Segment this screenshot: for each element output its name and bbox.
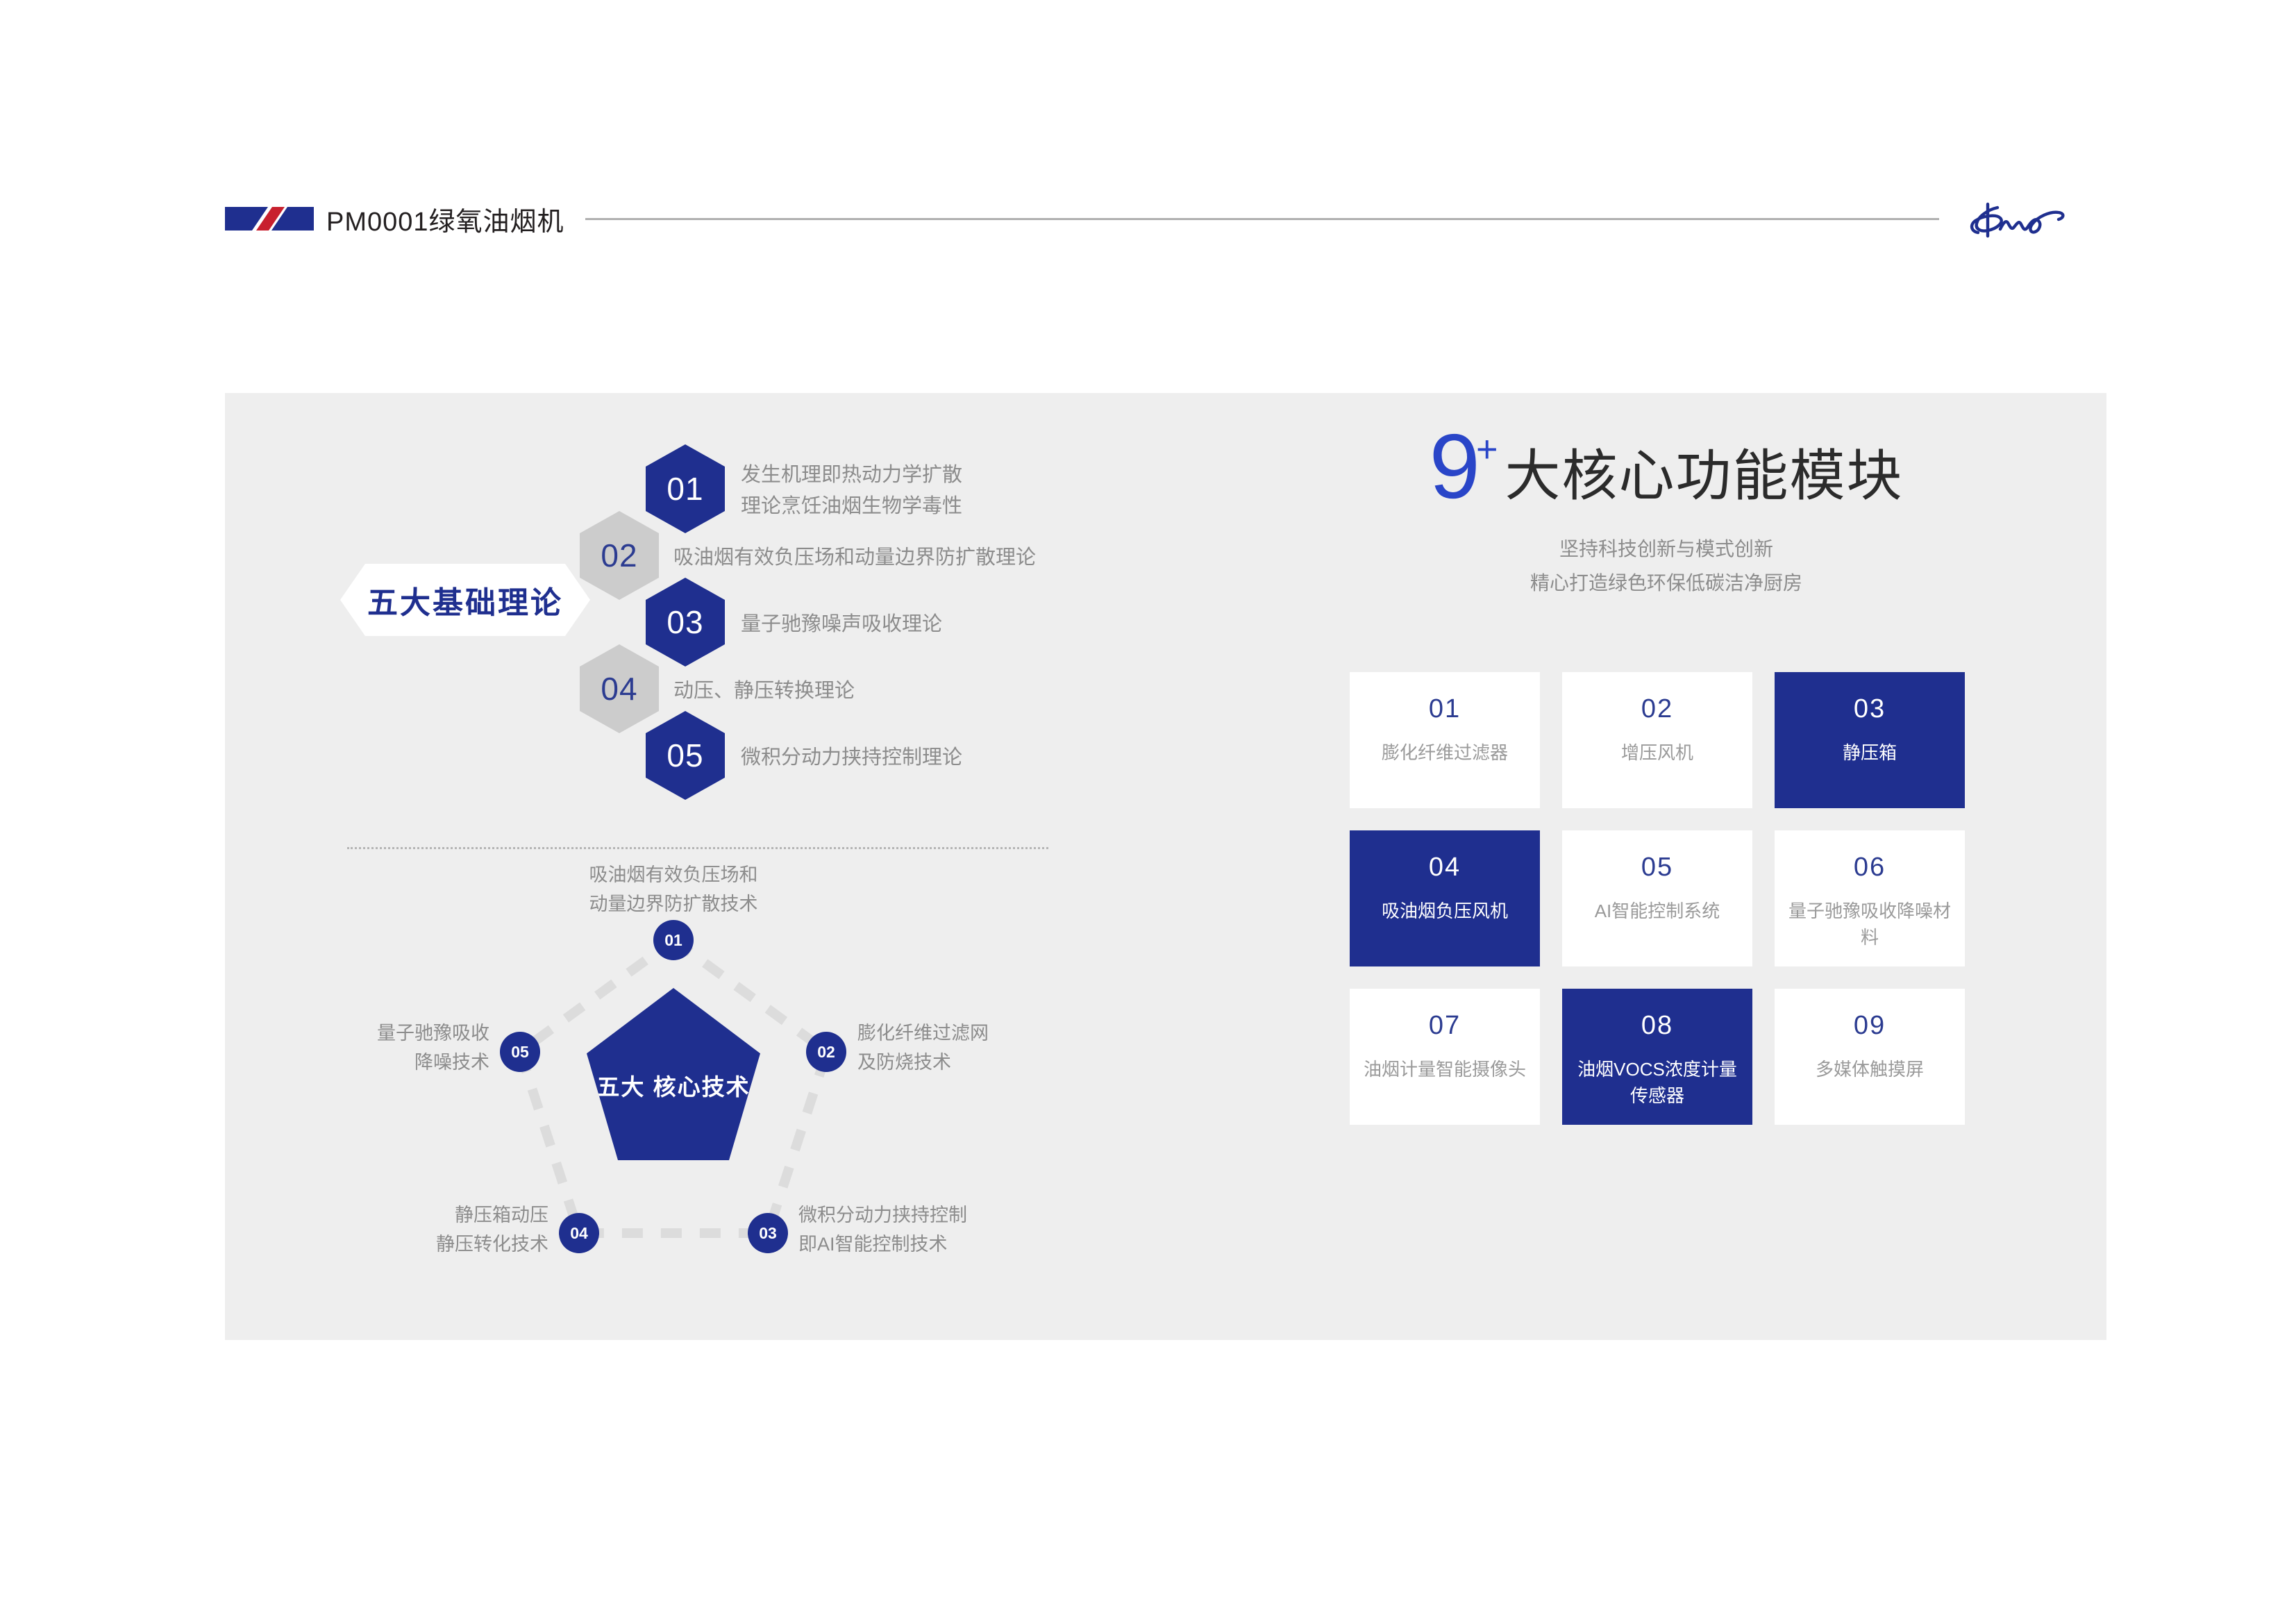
theory-label-04: 动压、静压转换理论 bbox=[673, 676, 855, 707]
core-tech-node-01[interactable]: 01 bbox=[653, 920, 694, 960]
theory-hex-03[interactable]: 03 bbox=[646, 578, 725, 667]
module-grid: 01 膨化纤维过滤器 02 增压风机 03 静压箱 04 吸油烟负压风机 05 … bbox=[1350, 672, 1965, 1125]
module-number: 05 bbox=[1641, 854, 1673, 880]
theory-label-02: 吸油烟有效负压场和动量边界防扩散理论 bbox=[673, 542, 1036, 574]
module-card-01[interactable]: 01 膨化纤维过滤器 bbox=[1350, 672, 1540, 808]
theory-hex-04[interactable]: 04 bbox=[580, 644, 659, 733]
core-tech-node-03[interactable]: 03 bbox=[748, 1213, 788, 1253]
module-label: 增压风机 bbox=[1610, 740, 1704, 767]
core-tech-label-05: 量子驰豫吸收 降噪技术 bbox=[285, 1019, 489, 1078]
theory-label-01: 发生机理即热动力学扩散 理论烹饪油烟生物学毒性 bbox=[741, 460, 962, 522]
core-technologies-section: 五大 核心技术 01 02 03 04 05 吸油烟有效负压场和 动量边界防扩散… bbox=[340, 868, 1062, 1257]
module-number: 04 bbox=[1429, 854, 1461, 880]
core-tech-node-05[interactable]: 05 bbox=[500, 1032, 540, 1072]
core-tech-node-02[interactable]: 02 bbox=[806, 1032, 846, 1072]
module-label: 静压箱 bbox=[1832, 740, 1908, 767]
theory-hex-02[interactable]: 02 bbox=[580, 511, 659, 600]
module-number: 08 bbox=[1641, 1012, 1673, 1039]
module-card-02[interactable]: 02 增压风机 bbox=[1562, 672, 1752, 808]
theory-hex-05[interactable]: 05 bbox=[646, 711, 725, 800]
module-label: 膨化纤维过滤器 bbox=[1371, 740, 1519, 767]
modules-title-block: 9 + 大核心功能模块 坚持科技创新与模式创新 精心打造绿色环保低碳洁净厨房 bbox=[1340, 424, 1993, 600]
module-card-03[interactable]: 03 静压箱 bbox=[1775, 672, 1965, 808]
module-label: 油烟计量智能摄像头 bbox=[1352, 1057, 1537, 1083]
core-tech-label-04: 静压箱动压 静压转化技术 bbox=[330, 1201, 548, 1259]
module-label: 油烟VOCS浓度计量传感器 bbox=[1562, 1057, 1752, 1109]
theory-hex-01[interactable]: 01 bbox=[646, 444, 725, 533]
foundation-theories-section: 五大基础理论 01 02 03 04 05 发生机理即热动力学扩散 理论烹饪油烟… bbox=[340, 444, 1062, 805]
module-number: 07 bbox=[1429, 1012, 1461, 1039]
modules-count-plus: + bbox=[1476, 430, 1498, 468]
foundation-theories-badge: 五大基础理论 bbox=[340, 564, 590, 636]
theory-label-03: 量子驰豫噪声吸收理论 bbox=[741, 609, 942, 640]
module-card-04[interactable]: 04 吸油烟负压风机 bbox=[1350, 830, 1540, 966]
header-divider-rule bbox=[585, 218, 1939, 220]
module-label: 量子驰豫吸收降噪材料 bbox=[1775, 898, 1965, 951]
module-number: 01 bbox=[1429, 696, 1461, 722]
module-label: 吸油烟负压风机 bbox=[1371, 898, 1519, 925]
module-card-08[interactable]: 08 油烟VOCS浓度计量传感器 bbox=[1562, 989, 1752, 1125]
page-title: PM0001绿氧油烟机 bbox=[326, 200, 564, 238]
dawo-signature-logo-icon bbox=[1957, 194, 2106, 243]
module-card-05[interactable]: 05 AI智能控制系统 bbox=[1562, 830, 1752, 966]
core-tech-label-01: 吸油烟有效负压场和 动量边界防扩散技术 bbox=[569, 861, 778, 919]
core-tech-label-02: 膨化纤维过滤网 及防烧技术 bbox=[857, 1019, 1066, 1078]
module-card-06[interactable]: 06 量子驰豫吸收降噪材料 bbox=[1775, 830, 1965, 966]
module-number: 02 bbox=[1641, 696, 1673, 722]
module-number: 06 bbox=[1854, 854, 1886, 880]
modules-subtitle: 坚持科技创新与模式创新 精心打造绿色环保低碳洁净厨房 bbox=[1340, 532, 1993, 600]
theory-label-05: 微积分动力挟持控制理论 bbox=[741, 742, 962, 773]
modules-count-number: 9 bbox=[1430, 426, 1480, 507]
modules-heading: 大核心功能模块 bbox=[1505, 449, 1903, 504]
module-number: 09 bbox=[1854, 1012, 1886, 1039]
section-divider bbox=[347, 847, 1048, 849]
module-label: AI智能控制系统 bbox=[1584, 898, 1732, 925]
brand-stripe-logo-icon bbox=[225, 207, 314, 231]
module-card-07[interactable]: 07 油烟计量智能摄像头 bbox=[1350, 989, 1540, 1125]
module-label: 多媒体触摸屏 bbox=[1804, 1057, 1935, 1083]
module-card-09[interactable]: 09 多媒体触摸屏 bbox=[1775, 989, 1965, 1125]
page-header: PM0001绿氧油烟机 bbox=[225, 194, 2106, 243]
core-tech-node-04[interactable]: 04 bbox=[559, 1213, 599, 1253]
core-tech-label-03: 微积分动力挟持控制 即AI智能控制技术 bbox=[798, 1201, 1028, 1259]
module-number: 03 bbox=[1854, 696, 1886, 722]
